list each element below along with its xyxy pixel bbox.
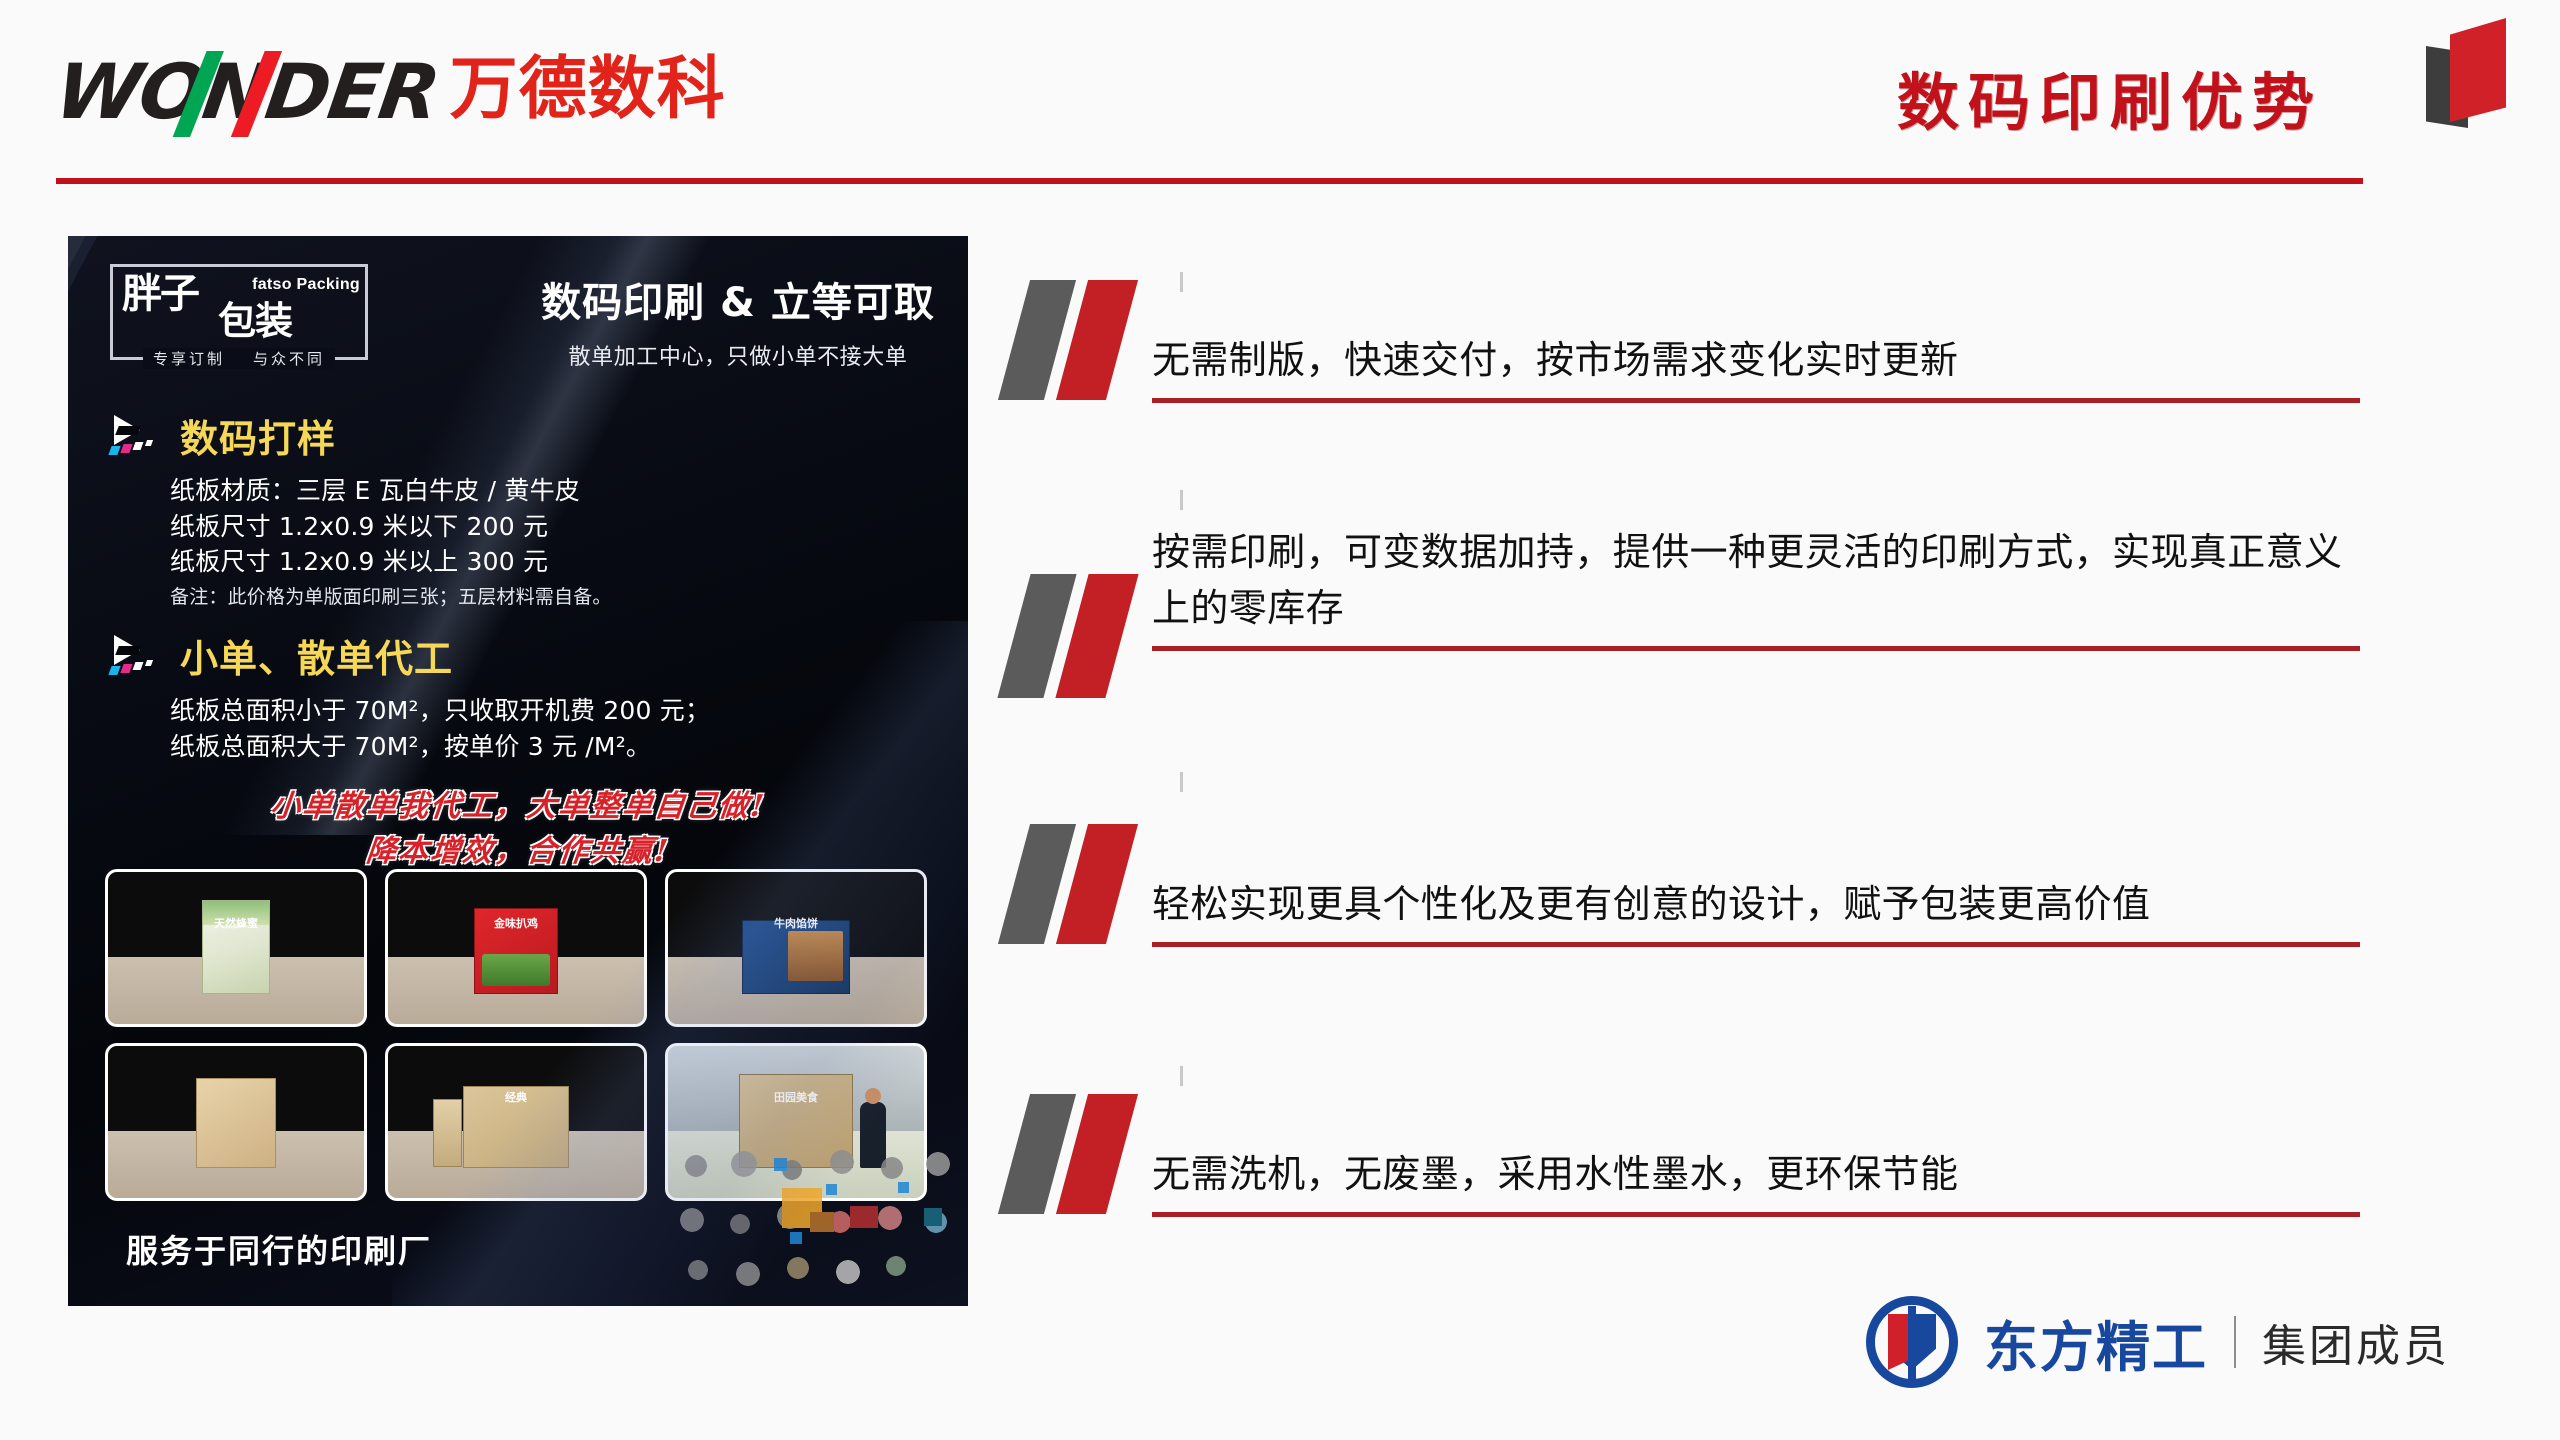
advantage-item-3: 轻松实现更具个性化及更有创意的设计，赋予包装更高价值 xyxy=(1000,824,2360,944)
product-photo-label: 金味扒鸡 xyxy=(494,915,538,931)
corporate-group-logo: 东方精工 集团成员 xyxy=(1866,1296,2450,1388)
poster-headline-block: 数码印刷 & 立等可取 散单加工中心，只做小单不接大单 xyxy=(528,270,948,371)
advantage-underline xyxy=(1152,942,2360,947)
tagline-right: 与众不同 xyxy=(253,348,325,369)
product-photo: 天然蜂蜜 xyxy=(108,872,364,1024)
bullet-marker xyxy=(1000,280,1150,400)
fatso-packing-logo: 胖子 包装 fatso Packing 专享订制 与众不同 xyxy=(110,264,368,360)
poster-headline: 数码印刷 & 立等可取 xyxy=(528,270,948,328)
advantage-item-4: 无需洗机，无废墨，采用水性墨水，更环保节能 xyxy=(1000,1094,2360,1214)
tick-mark xyxy=(1180,1066,1183,1086)
section-line: 纸板材质：三层 E 瓦白牛皮 / 黄牛皮 xyxy=(170,473,612,509)
logo-name-cn: 胖子 xyxy=(122,274,198,314)
arrow-chevron-icon xyxy=(108,633,164,679)
advantage-text: 轻松实现更具个性化及更有创意的设计，赋予包装更高价值 xyxy=(1152,824,2360,942)
section-line: 纸板总面积大于 70M²，按单价 3 元 /M²。 xyxy=(170,729,710,765)
poster-section-small-orders: 小单、散单代工 纸板总面积小于 70M²，只收取开机费 200 元； 纸板总面积… xyxy=(108,628,710,764)
product-photo: 经典 xyxy=(388,1046,644,1198)
bullet-marker xyxy=(1000,574,1150,698)
product-photo: 金味扒鸡 xyxy=(388,872,644,1024)
folded-page-icon xyxy=(2412,6,2512,128)
advantage-underline xyxy=(1152,646,2360,651)
bullet-marker xyxy=(1000,824,1150,944)
halftone-dot-pattern xyxy=(672,1136,968,1306)
section-title-row: 小单、散单代工 xyxy=(108,628,710,683)
product-photo-label: 经典 xyxy=(505,1089,527,1105)
arrow-chevron-icon xyxy=(108,413,164,459)
tick-mark xyxy=(1180,772,1183,792)
advantage-text: 按需印刷，可变数据加持，提供一种更灵活的印刷方式，实现真正意义上的零库存 xyxy=(1152,518,2360,646)
product-photo-label: 田园美食 xyxy=(774,1089,818,1105)
slide-root: WONDER 万德数科 数码印刷优势 胖子 包装 fatso Packing 专… xyxy=(0,0,2560,1440)
product-photo-label: 牛肉馅饼 xyxy=(774,915,818,931)
section-lines: 纸板材质：三层 E 瓦白牛皮 / 黄牛皮 纸板尺寸 1.2x0.9 米以下 20… xyxy=(170,473,612,610)
logo-name-cn2: 包装 xyxy=(218,302,292,340)
group-member-label: 集团成员 xyxy=(2262,1310,2450,1374)
promo-poster-image: 胖子 包装 fatso Packing 专享订制 与众不同 数码印刷 & 立等可… xyxy=(68,236,968,1306)
bullet-marker xyxy=(1000,1094,1150,1214)
logo-separator xyxy=(2234,1316,2236,1368)
slogan-line-2: 降本增效，合作共赢! xyxy=(68,829,968,874)
company-logo: WONDER 万德数科 xyxy=(60,48,726,126)
fosber-emblem-icon xyxy=(1866,1296,1958,1388)
advantages-list: 无需制版，快速交付，按市场需求变化实时更新 按需印刷，可变数据加持，提供一种更灵… xyxy=(1000,280,2360,1214)
logo-name-en: fatso Packing xyxy=(252,276,360,294)
poster-slogan: 小单散单我代工，大单整单自己做! 降本增效，合作共赢! xyxy=(68,784,968,874)
section-title-row: 数码打样 xyxy=(108,408,612,463)
section-title: 小单、散单代工 xyxy=(180,628,453,683)
product-photo: 牛肉馅饼 xyxy=(668,872,924,1024)
brand-chinese-name: 万德数科 xyxy=(450,56,726,124)
product-photo-label: 天然蜂蜜 xyxy=(214,915,258,931)
header-divider xyxy=(56,178,2363,184)
corporate-name: 东方精工 xyxy=(1984,1303,2208,1382)
wonder-wordmark: WONDER xyxy=(51,58,442,126)
slogan-line-1: 小单散单我代工，大单整单自己做! xyxy=(68,784,968,829)
logo-tagline: 专享订制 与众不同 xyxy=(143,348,335,369)
section-line: 纸板尺寸 1.2x0.9 米以下 200 元 xyxy=(170,509,612,545)
section-lines: 纸板总面积小于 70M²，只收取开机费 200 元； 纸板总面积大于 70M²，… xyxy=(170,693,710,764)
page-title: 数码印刷优势 xyxy=(1897,52,2323,142)
poster-subheadline: 散单加工中心，只做小单不接大单 xyxy=(528,339,948,371)
product-photo xyxy=(108,1046,364,1198)
tick-mark xyxy=(1180,272,1183,292)
section-note: 备注：此价格为单版面印刷三张；五层材料需自备。 xyxy=(170,584,612,611)
folded-page-front xyxy=(2450,18,2506,122)
tagline-left: 专享订制 xyxy=(153,348,225,369)
poster-footer-text: 服务于同行的印刷厂 xyxy=(126,1226,432,1272)
section-line: 纸板总面积小于 70M²，只收取开机费 200 元； xyxy=(170,693,710,729)
advantage-text: 无需洗机，无废墨，采用水性墨水，更环保节能 xyxy=(1152,1094,2360,1212)
tick-mark xyxy=(1180,490,1183,510)
advantage-item-2: 按需印刷，可变数据加持，提供一种更灵活的印刷方式，实现真正意义上的零库存 xyxy=(1000,518,2360,698)
advantage-underline xyxy=(1152,1212,2360,1217)
advantage-underline xyxy=(1152,398,2360,403)
advantage-text: 无需制版，快速交付，按市场需求变化实时更新 xyxy=(1152,280,2360,398)
poster-section-digital-proofing: 数码打样 纸板材质：三层 E 瓦白牛皮 / 黄牛皮 纸板尺寸 1.2x0.9 米… xyxy=(108,408,612,610)
section-title: 数码打样 xyxy=(180,408,336,463)
advantage-item-1: 无需制版，快速交付，按市场需求变化实时更新 xyxy=(1000,280,2360,400)
section-line: 纸板尺寸 1.2x0.9 米以上 300 元 xyxy=(170,544,612,580)
